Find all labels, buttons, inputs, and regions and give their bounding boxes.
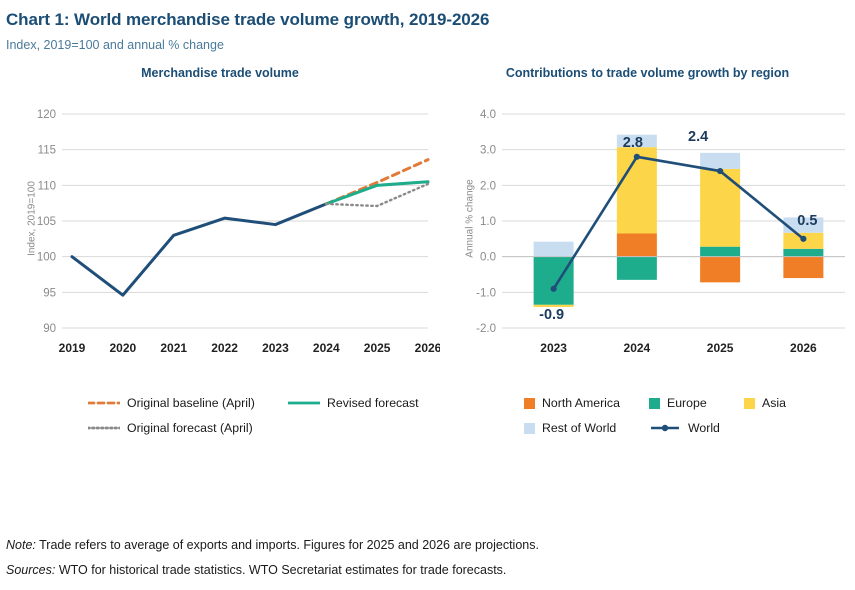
y-tick-label: 2.0 [480,180,496,192]
left-chart-legend: Original baseline (April)Revised forecas… [88,396,419,446]
y-tick-label: 100 [37,252,56,264]
chart-footnotes: Note: Trade refers to average of exports… [6,533,539,582]
dashed-line-swatch [88,397,120,409]
right-plot-wrap: Annual % change -2.0-1.00.01.02.03.04.02… [440,100,855,365]
legend-item[interactable]: World [649,421,720,435]
bar-segment-asia [700,169,740,247]
x-tick-label: 2025 [707,341,734,355]
x-tick-label: 2026 [790,341,817,355]
world-data-point [717,168,723,174]
bar-segment-north-america [783,257,823,278]
bar-segment-north-america [617,233,657,256]
bar-segment-europe [534,257,574,305]
legend-row: Original forecast (April) [88,421,419,435]
legend-swatch-rest-of-world [524,423,535,434]
note-label: Note: [6,538,36,552]
line-series-actual [72,204,326,295]
contributions-by-region-chart: -2.0-1.00.01.02.03.04.02023202420252026-… [440,100,855,365]
left-axis-label: Index, 2019=100 [27,159,38,279]
panel-contributions-by-region: Contributions to trade volume growth by … [440,66,855,365]
y-tick-label: 95 [43,287,56,299]
chart-header: Chart 1: World merchandise trade volume … [0,0,855,52]
line-series-world [554,157,804,289]
x-tick-label: 2024 [624,341,651,355]
bar-segment-rest-of-world [534,242,574,257]
y-tick-label: 110 [38,180,56,192]
y-tick-label: 90 [43,323,56,335]
y-tick-label: 0.0 [480,252,496,264]
sources-label: Sources: [6,563,55,577]
legend-label: Revised forecast [327,396,419,410]
bar-segment-europe [783,249,823,257]
legend-label: Original forecast (April) [127,421,253,435]
footnote-note: Note: Trade refers to average of exports… [6,533,539,557]
legend-swatch-europe [649,398,660,409]
legend-swatch-asia [744,398,755,409]
world-data-point [634,154,640,160]
world-value-label: 0.5 [797,213,817,229]
x-tick-label: 2024 [313,341,340,355]
x-tick-label: 2022 [211,341,238,355]
y-tick-label: 4.0 [480,109,496,121]
legend-row: Original baseline (April)Revised forecas… [88,396,419,410]
right-chart-legend: North AmericaEuropeAsiaRest of WorldWorl… [524,396,786,446]
world-value-label: -0.9 [539,307,564,323]
y-tick-label: 1.0 [480,216,496,228]
x-tick-label: 2020 [110,341,137,355]
panel-right-title: Contributions to trade volume growth by … [440,66,855,80]
y-tick-label: 105 [37,216,56,228]
y-tick-label: -1.0 [476,287,496,299]
dotted-line-swatch [88,422,120,434]
legend-item[interactable]: Rest of World [524,421,649,435]
y-tick-label: 115 [38,145,56,157]
footnote-sources: Sources: WTO for historical trade statis… [6,558,539,582]
x-tick-label: 2023 [262,341,289,355]
left-plot-wrap: Index, 2019=100 909510010511011512020192… [0,100,440,365]
panel-merchandise-trade-volume: Merchandise trade volume Index, 2019=100… [0,66,440,365]
right-axis-label: Annual % change [465,159,476,279]
page-title: Chart 1: World merchandise trade volume … [6,10,855,30]
chart-panels: Merchandise trade volume Index, 2019=100… [0,66,855,446]
bar-segment-europe [617,257,657,280]
legend-item[interactable]: Revised forecast [288,396,419,410]
legend-item[interactable]: North America [524,396,649,410]
world-line-marker-swatch [649,422,681,434]
legend-item[interactable]: Europe [649,396,744,410]
legend-row: North AmericaEuropeAsia [524,396,786,410]
sources-text: WTO for historical trade statistics. WTO… [55,563,506,577]
world-value-label: 2.8 [623,135,643,151]
y-tick-label: 3.0 [480,145,496,157]
bar-segment-europe [700,247,740,257]
world-value-label: 2.4 [688,129,708,145]
legend-label: Original baseline (April) [127,396,255,410]
solid-line-swatch [288,397,320,409]
panel-left-title: Merchandise trade volume [0,66,440,80]
page-subtitle: Index, 2019=100 and annual % change [6,38,855,52]
note-text: Trade refers to average of exports and i… [36,538,539,552]
legend-label: North America [542,396,620,410]
line-series-original-forecast-april [326,184,428,206]
x-tick-label: 2023 [540,341,567,355]
world-data-point [551,286,557,292]
x-tick-label: 2021 [160,341,187,355]
legend-label: Europe [667,396,707,410]
y-tick-label: 120 [37,109,56,121]
legend-item[interactable]: Original baseline (April) [88,396,288,410]
x-tick-label: 2025 [364,341,391,355]
legend-item[interactable]: Asia [744,396,786,410]
world-data-point [800,236,806,242]
legend-swatch-north-america [524,398,535,409]
x-tick-label: 2019 [59,341,86,355]
bar-segment-north-america [700,257,740,283]
y-tick-label: -2.0 [476,323,496,335]
legend-item[interactable]: Original forecast (April) [88,421,253,435]
legend-label: Asia [762,396,786,410]
bar-segment-rest-of-world [700,153,740,169]
x-tick-label: 2026 [415,341,440,355]
legend-label: Rest of World [542,421,616,435]
legend-row: Rest of WorldWorld [524,421,786,435]
legend-label: World [688,421,720,435]
merchandise-trade-volume-chart: 9095100105110115120201920202021202220232… [0,100,440,365]
